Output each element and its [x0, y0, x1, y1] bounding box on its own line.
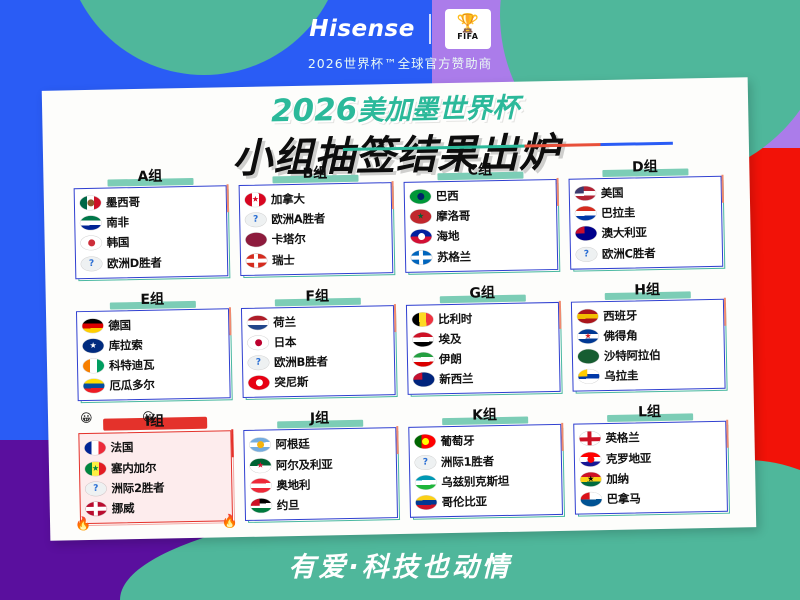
team-name: 洲际2胜者 — [111, 479, 164, 496]
flag-icon-unknown: ? — [85, 481, 106, 495]
team-name: 瑞士 — [272, 252, 295, 268]
team-name: 欧洲D胜者 — [107, 254, 162, 271]
group-title-text: K组 — [472, 407, 497, 423]
flag-icon-netherlands — [247, 315, 268, 329]
team-row[interactable]: ★佛得角 — [577, 324, 718, 346]
flag-icon-norway — [86, 502, 107, 516]
team-row[interactable]: ?欧洲B胜者 — [248, 351, 389, 373]
brand-row: Hisense 🏆 FIFA — [309, 9, 491, 49]
group-card-L[interactable]: L组英格兰克罗地亚★加纳巴拿马 — [573, 401, 728, 515]
flag-icon-brazil — [410, 189, 431, 203]
team-row[interactable]: 墨西哥 — [80, 191, 221, 213]
team-name: 卡塔尔 — [271, 231, 305, 248]
team-row[interactable]: 科特迪瓦 — [83, 354, 224, 376]
group-title-E: E组 — [76, 288, 229, 311]
group-title-D: D组 — [568, 156, 721, 179]
sponsor-line: 2026世界杯™全球官方赞助商 — [308, 53, 492, 72]
team-row[interactable]: 卡塔尔 — [245, 228, 386, 250]
team-row[interactable]: 巴拿马 — [581, 487, 722, 509]
group-title-text: H组 — [634, 282, 660, 298]
team-row[interactable]: ?欧洲C胜者 — [576, 242, 717, 264]
team-row[interactable]: 巴拉圭 — [575, 202, 716, 224]
team-name: 洲际1胜者 — [441, 453, 494, 470]
flag-icon-cape-verde: ★ — [577, 329, 598, 343]
team-row[interactable]: 日本 — [247, 331, 388, 353]
flag-icon-argentina — [249, 438, 270, 452]
team-name: 英格兰 — [605, 430, 639, 447]
group-card-E[interactable]: E组德国★库拉索科特迪瓦厄瓜多尔 — [76, 288, 231, 402]
team-name: 乌拉圭 — [604, 368, 638, 385]
team-row[interactable]: 巴西 — [410, 185, 551, 207]
group-team-list-E: 德国★库拉索科特迪瓦厄瓜多尔 — [76, 308, 231, 402]
flag-icon-panama — [581, 492, 602, 506]
main-card: 2026美加墨世界杯 小组抽签结果出炉 A组墨西哥南非韩国?欧洲D胜者B组★加拿… — [42, 77, 757, 540]
flag-icon-unknown: ? — [248, 356, 269, 370]
flag-icon-ecuador — [83, 379, 104, 393]
smiley-face-icon-right: 😀 — [142, 411, 155, 423]
group-card-I[interactable]: I组😀😀法国★塞内加尔?洲际2胜者挪威🔥🔥 — [78, 411, 233, 525]
group-team-list-D: 美国巴拉圭澳大利亚?欧洲C胜者 — [569, 176, 724, 270]
team-row[interactable]: 伊朗 — [413, 348, 554, 370]
group-title-J: J组 — [243, 407, 396, 430]
fifa-label: FIFA — [457, 32, 478, 41]
team-row[interactable]: 埃及 — [412, 327, 553, 349]
team-row[interactable]: ★摩洛哥 — [410, 205, 551, 227]
team-name: 阿尔及利亚 — [276, 456, 333, 473]
flag-icon-south-africa — [80, 216, 101, 230]
team-name: 塞内加尔 — [111, 459, 157, 476]
flag-icon-germany — [82, 318, 103, 332]
team-row[interactable]: 法国 — [84, 436, 225, 458]
group-title-H: H组 — [571, 278, 724, 301]
team-row[interactable]: 西班牙 — [577, 304, 718, 326]
team-name: 法国 — [110, 440, 133, 456]
flag-icon-scotland — [411, 250, 432, 264]
team-name: 比利时 — [438, 310, 472, 327]
team-name: 摩洛哥 — [436, 208, 470, 225]
flag-icon-japan — [247, 335, 268, 349]
team-name: 库拉索 — [108, 337, 142, 354]
team-name: 巴拉圭 — [601, 205, 635, 222]
team-row[interactable]: 荷兰 — [247, 310, 388, 332]
team-row[interactable]: ?欧洲D胜者 — [81, 251, 222, 273]
team-name: 海地 — [436, 228, 459, 244]
team-name: 苏格兰 — [437, 248, 471, 265]
group-title-A: A组 — [73, 165, 226, 188]
team-name: 科特迪瓦 — [109, 357, 155, 374]
group-team-list-B: ★加拿大?欧洲A胜者卡塔尔瑞士 — [239, 182, 394, 276]
flag-icon-senegal: ★ — [85, 461, 106, 475]
team-name: 新西兰 — [439, 371, 473, 388]
team-name: 乌兹别克斯坦 — [441, 473, 509, 490]
flag-icon-france — [84, 441, 105, 455]
team-row[interactable]: 海地 — [410, 225, 551, 247]
group-title-text: F组 — [305, 288, 329, 304]
fire-icon-right: 🔥 — [222, 515, 238, 528]
header: Hisense 🏆 FIFA 2026世界杯™全球官方赞助商 — [0, 8, 800, 72]
team-row[interactable]: 比利时 — [412, 307, 553, 329]
flag-icon-curacao: ★ — [83, 339, 104, 353]
flag-icon-mexico — [80, 196, 101, 210]
group-title-text: J组 — [310, 411, 330, 427]
team-row[interactable]: ?欧洲A胜者 — [245, 208, 386, 230]
flag-icon-croatia — [580, 452, 601, 466]
team-name: 哥伦比亚 — [442, 493, 488, 510]
team-row[interactable]: ★库拉索 — [82, 334, 223, 356]
team-name: 荷兰 — [273, 314, 296, 330]
team-row[interactable]: 哥伦比亚 — [416, 490, 557, 512]
group-title-G: G组 — [406, 282, 559, 305]
flag-icon-tunisia — [248, 376, 269, 390]
group-grid: A组墨西哥南非韩国?欧洲D胜者B组★加拿大?欧洲A胜者卡塔尔瑞士C组巴西★摩洛哥… — [73, 156, 728, 524]
flag-icon-spain — [577, 309, 598, 323]
team-row[interactable]: 美国 — [575, 181, 716, 203]
team-row[interactable]: 突尼斯 — [248, 371, 389, 393]
flag-icon-portugal — [414, 435, 435, 449]
group-card-G[interactable]: G组比利时埃及伊朗新西兰 — [406, 282, 561, 396]
group-team-list-C: 巴西★摩洛哥海地苏格兰 — [404, 179, 559, 273]
team-row[interactable]: ★阿尔及利亚 — [250, 453, 391, 475]
flag-icon-south-korea — [81, 236, 102, 250]
group-card-J[interactable]: J组阿根廷★阿尔及利亚奥地利约旦 — [243, 407, 398, 521]
group-title-text: E组 — [140, 291, 164, 307]
flag-icon-uzbekistan — [415, 475, 436, 489]
team-name: 佛得角 — [603, 327, 637, 344]
footer-slogan: 有爱·科技也动情 — [0, 545, 800, 584]
brand-divider — [429, 14, 431, 44]
flag-icon-belgium — [412, 312, 433, 326]
team-name: 欧洲B胜者 — [274, 353, 328, 370]
flag-icon-england — [579, 432, 600, 446]
flag-icon-unknown: ? — [415, 455, 436, 469]
group-team-list-H: 西班牙★佛得角沙特阿拉伯乌拉圭 — [571, 298, 726, 392]
team-name: 厄瓜多尔 — [109, 377, 155, 394]
flag-icon-paraguay — [575, 206, 596, 220]
team-name: 加拿大 — [271, 191, 305, 208]
group-card-C[interactable]: C组巴西★摩洛哥海地苏格兰 — [403, 159, 558, 273]
group-card-D[interactable]: D组美国巴拉圭澳大利亚?欧洲C胜者 — [568, 156, 723, 270]
team-name: 葡萄牙 — [440, 433, 474, 450]
team-row[interactable]: 苏格兰 — [411, 245, 552, 267]
team-row[interactable]: 乌兹别克斯坦 — [415, 470, 556, 492]
footer: 有爱·科技也动情 — [0, 545, 800, 584]
flag-icon-colombia — [416, 495, 437, 509]
team-name: 巴拿马 — [607, 490, 641, 507]
trophy-icon: 🏆 — [457, 16, 479, 32]
team-name: 约旦 — [277, 497, 300, 513]
team-row[interactable]: ?洲际1胜者 — [415, 450, 556, 472]
hisense-logo: Hisense — [309, 16, 415, 42]
flag-icon-ivory-coast — [83, 359, 104, 373]
team-name: 日本 — [273, 334, 296, 350]
flag-icon-canada: ★ — [245, 193, 266, 207]
team-row[interactable]: ★加拿大 — [245, 188, 386, 210]
flag-icon-jordan — [251, 498, 272, 512]
team-row[interactable]: 韩国 — [81, 231, 222, 253]
flag-icon-ghana: ★ — [580, 472, 601, 486]
team-row[interactable]: ★塞内加尔 — [85, 456, 226, 478]
team-name: 伊朗 — [439, 351, 462, 367]
flag-icon-australia — [575, 227, 596, 241]
team-row[interactable]: 德国 — [82, 314, 223, 336]
flag-icon-switzerland — [246, 253, 267, 267]
group-card-A[interactable]: A组墨西哥南非韩国?欧洲D胜者 — [73, 165, 228, 279]
flag-icon-qatar — [246, 233, 267, 247]
team-name: 克罗地亚 — [606, 450, 652, 467]
group-title-text: D组 — [632, 159, 658, 175]
flag-icon-iran — [413, 352, 434, 366]
team-row[interactable]: 瑞士 — [246, 248, 387, 270]
group-title-text: C组 — [468, 162, 493, 178]
team-row[interactable]: 克罗地亚 — [580, 447, 721, 469]
team-row[interactable]: 南非 — [80, 211, 221, 233]
group-title-I: I组😀😀 — [78, 411, 231, 434]
team-name: 阿根廷 — [275, 436, 309, 453]
team-row[interactable]: ★加纳 — [580, 467, 721, 489]
group-card-B[interactable]: B组★加拿大?欧洲A胜者卡塔尔瑞士 — [238, 162, 393, 276]
team-name: 突尼斯 — [274, 374, 308, 391]
team-name: 奥地利 — [276, 476, 310, 493]
fire-icon-left: 🔥 — [75, 518, 91, 531]
group-card-K[interactable]: K组葡萄牙?洲际1胜者乌兹别克斯坦哥伦比亚 — [408, 404, 563, 518]
group-title-L: L组 — [573, 401, 726, 424]
flag-icon-algeria: ★ — [250, 458, 271, 472]
flag-icon-morocco: ★ — [410, 210, 431, 224]
team-name: 欧洲C胜者 — [602, 245, 656, 262]
team-name: 欧洲A胜者 — [271, 211, 325, 228]
group-title-text: L组 — [638, 404, 661, 420]
team-row[interactable]: 葡萄牙 — [414, 430, 555, 452]
team-row[interactable]: 新西兰 — [413, 368, 554, 390]
group-title-text: B组 — [302, 165, 327, 181]
flag-icon-unknown: ? — [576, 247, 597, 261]
group-team-list-F: 荷兰日本?欧洲B胜者突尼斯 — [241, 305, 396, 399]
team-name: 埃及 — [438, 331, 461, 347]
group-title-K: K组 — [408, 404, 561, 427]
group-title-text: G组 — [469, 285, 495, 301]
team-row[interactable]: 乌拉圭 — [578, 365, 719, 387]
group-team-list-A: 墨西哥南非韩国?欧洲D胜者 — [74, 185, 229, 279]
group-title-C: C组 — [403, 159, 556, 182]
team-row[interactable]: 沙特阿拉伯 — [578, 344, 719, 366]
group-team-list-G: 比利时埃及伊朗新西兰 — [406, 302, 561, 396]
flag-icon-haiti — [410, 230, 431, 244]
team-name: 美国 — [601, 185, 624, 201]
team-name: 韩国 — [107, 235, 130, 251]
group-title-text: A组 — [137, 169, 162, 185]
group-title-B: B组 — [238, 162, 391, 185]
group-title-F: F组 — [241, 285, 394, 308]
team-row[interactable]: 奥地利 — [250, 473, 391, 495]
team-name: 澳大利亚 — [601, 225, 647, 242]
team-name: 沙特阿拉伯 — [604, 347, 661, 364]
flag-icon-unknown: ? — [245, 213, 266, 227]
team-name: 南非 — [106, 214, 129, 230]
team-row[interactable]: 厄瓜多尔 — [83, 374, 224, 396]
group-card-H[interactable]: H组西班牙★佛得角沙特阿拉伯乌拉圭 — [571, 278, 726, 392]
group-team-list-L: 英格兰克罗地亚★加纳巴拿马 — [573, 421, 728, 515]
group-card-F[interactable]: F组荷兰日本?欧洲B胜者突尼斯 — [241, 285, 396, 399]
flag-icon-unknown: ? — [81, 256, 102, 270]
team-name: 西班牙 — [603, 307, 637, 324]
team-name: 墨西哥 — [106, 194, 140, 211]
group-team-list-K: 葡萄牙?洲际1胜者乌兹别克斯坦哥伦比亚 — [408, 424, 563, 518]
team-row[interactable]: 澳大利亚 — [575, 222, 716, 244]
flag-icon-usa — [575, 186, 596, 200]
group-team-list-J: 阿根廷★阿尔及利亚奥地利约旦 — [243, 427, 398, 521]
team-name: 挪威 — [112, 500, 135, 516]
flag-icon-new-zealand — [413, 373, 434, 387]
flag-icon-saudi-arabia — [578, 349, 599, 363]
flag-icon-uruguay — [578, 369, 599, 383]
flag-icon-egypt — [412, 332, 433, 346]
team-row[interactable]: 挪威 — [86, 497, 227, 519]
fifa-world-cup-badge: 🏆 FIFA — [445, 9, 491, 49]
team-row[interactable]: ?洲际2胜者 — [85, 477, 226, 499]
group-team-list-I: 法国★塞内加尔?洲际2胜者挪威🔥🔥 — [78, 431, 233, 525]
team-name: 巴西 — [436, 188, 459, 204]
team-name: 加纳 — [606, 470, 629, 486]
team-row[interactable]: 阿根廷 — [249, 433, 390, 455]
flag-icon-austria — [250, 478, 271, 492]
team-row[interactable]: 英格兰 — [579, 427, 720, 449]
team-row[interactable]: 约旦 — [251, 494, 392, 516]
team-name: 德国 — [108, 317, 131, 333]
smiley-face-icon-left: 😀 — [80, 412, 93, 424]
